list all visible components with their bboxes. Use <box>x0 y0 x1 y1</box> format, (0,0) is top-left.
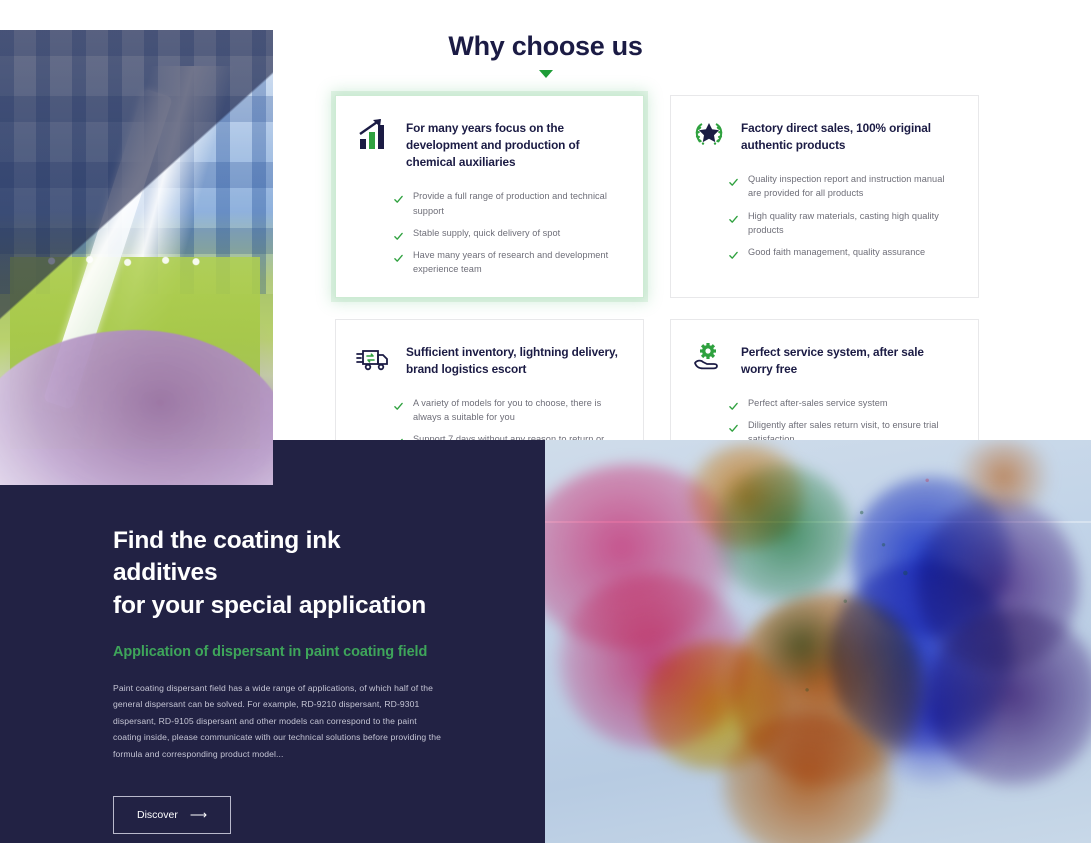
bullet-item: Have many years of research and developm… <box>394 248 623 277</box>
hero-subtitle: Application of dispersant in paint coati… <box>113 644 443 660</box>
bullet-text: Good faith management, quality assurance <box>748 245 925 259</box>
bullet-text: Provide a full range of production and t… <box>413 189 623 218</box>
delivery-truck-icon <box>356 340 392 376</box>
feature-card-title: Sufficient inventory, lightning delivery… <box>406 342 623 378</box>
discover-button-label: Discover <box>137 809 178 821</box>
feature-card-title: For many years focus on the development … <box>406 118 623 171</box>
bar-chart-growth-icon <box>356 116 392 152</box>
bullet-text: High quality raw materials, casting high… <box>748 209 958 238</box>
colorful-ink-in-water-image <box>545 440 1091 843</box>
feature-card-header: Factory direct sales, 100% original auth… <box>691 118 958 154</box>
check-icon <box>729 398 738 407</box>
hero-paragraph: Paint coating dispersant field has a wid… <box>113 680 443 763</box>
check-icon <box>729 211 738 220</box>
why-choose-us-header: Why choose us <box>273 30 818 78</box>
ink-speckles <box>545 440 1091 843</box>
feature-card-bullets: Provide a full range of production and t… <box>356 189 623 276</box>
discover-button[interactable]: Discover ⟶ <box>113 796 231 834</box>
caret-down-icon <box>539 70 553 78</box>
bullet-item: High quality raw materials, casting high… <box>729 209 958 238</box>
bullet-item: Quality inspection report and instructio… <box>729 172 958 201</box>
bullet-text: Quality inspection report and instructio… <box>748 172 958 201</box>
feature-cards-row-1: For many years focus on the development … <box>335 95 980 298</box>
hero-heading: Find the coating ink additives for your … <box>113 525 443 622</box>
page-title: Why choose us <box>273 30 818 62</box>
feature-card-title: Factory direct sales, 100% original auth… <box>741 118 958 154</box>
feature-card-header: Sufficient inventory, lightning delivery… <box>356 342 623 378</box>
feature-card-title: Perfect service system, after sale worry… <box>741 342 958 378</box>
check-icon <box>394 250 403 259</box>
arrow-right-icon: ⟶ <box>190 809 207 821</box>
hero-content: Find the coating ink additives for your … <box>113 525 443 834</box>
feature-card-header: Perfect service system, after sale worry… <box>691 342 958 378</box>
bullet-text: A variety of models for you to choose, t… <box>413 396 623 425</box>
bullet-text: Have many years of research and developm… <box>413 248 623 277</box>
bullet-item: Good faith management, quality assurance <box>729 245 958 259</box>
hero-heading-line-1: Find the coating ink additives <box>113 527 340 586</box>
feature-card-bullets: Quality inspection report and instructio… <box>691 172 958 259</box>
feature-card-development[interactable]: For many years focus on the development … <box>335 95 644 298</box>
bullet-text: Perfect after-sales service system <box>748 396 888 410</box>
bullet-item: Provide a full range of production and t… <box>394 189 623 218</box>
hero-heading-line-2: for your special application <box>113 592 426 619</box>
check-icon <box>394 191 403 200</box>
bullet-item: Perfect after-sales service system <box>729 396 958 410</box>
feature-card-header: For many years focus on the development … <box>356 118 623 171</box>
feature-card-factory-direct[interactable]: Factory direct sales, 100% original auth… <box>670 95 979 298</box>
bullet-text: Stable supply, quick delivery of spot <box>413 226 560 240</box>
bullet-item: A variety of models for you to choose, t… <box>394 396 623 425</box>
check-icon <box>394 398 403 407</box>
check-icon <box>729 420 738 429</box>
check-icon <box>729 247 738 256</box>
check-icon <box>729 174 738 183</box>
page-root: Why choose us For many <box>0 0 1091 843</box>
check-icon <box>394 228 403 237</box>
lab-diagonal-overlay <box>0 30 273 485</box>
lab-flask-green-liquid-image <box>0 30 273 485</box>
hand-gear-service-icon <box>691 340 727 376</box>
laurel-star-icon <box>691 116 727 152</box>
bullet-item: Stable supply, quick delivery of spot <box>394 226 623 240</box>
